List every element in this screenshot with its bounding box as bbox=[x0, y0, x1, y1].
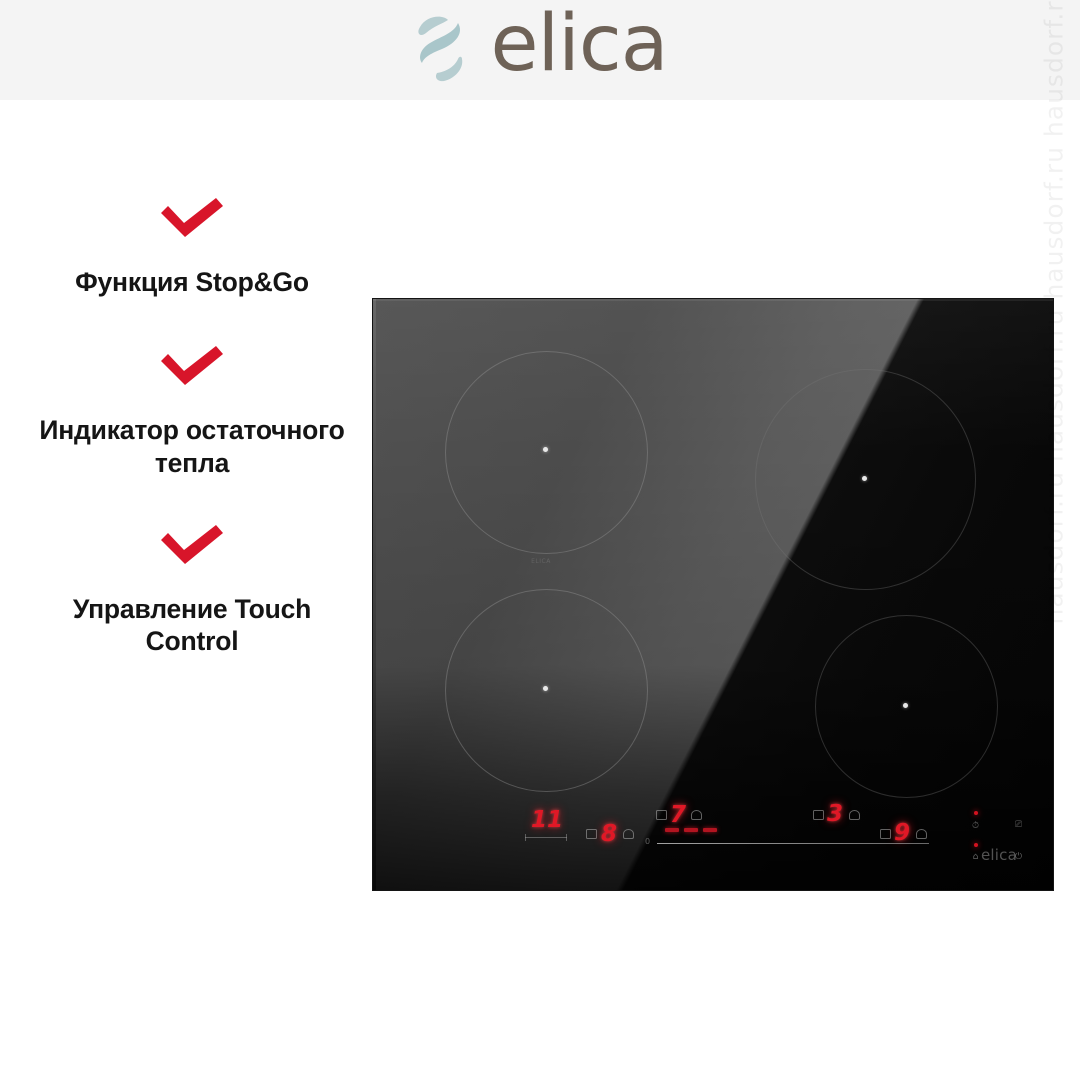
bridge-bar bbox=[525, 837, 567, 838]
minus-touch-icon[interactable] bbox=[813, 810, 824, 820]
cooking-zone-center-dot bbox=[903, 703, 908, 708]
plus-touch-icon[interactable] bbox=[691, 810, 702, 820]
child-lock-led bbox=[974, 843, 978, 847]
child-lock-button[interactable]: ⌂ bbox=[970, 852, 981, 863]
control-panel[interactable]: 11 8 7 3 9 0 ⏱ ⎚ bbox=[373, 799, 1053, 890]
hob-top-edge bbox=[373, 299, 1053, 301]
zone-readout-top-right: 3 bbox=[827, 803, 843, 826]
minus-touch-icon[interactable] bbox=[656, 810, 667, 820]
cooking-zone-top-left[interactable] bbox=[445, 351, 648, 554]
timer-button[interactable]: ⏱ bbox=[970, 821, 981, 832]
induction-hob: ELICA 11 8 7 3 9 0 bbox=[373, 299, 1053, 890]
cooking-zone-center-dot bbox=[862, 476, 867, 481]
zone-readout-top-left: 7 bbox=[670, 804, 686, 827]
power-slider[interactable] bbox=[657, 843, 929, 844]
hob-brand-logo: elica bbox=[981, 846, 1017, 864]
slider-mark bbox=[684, 828, 698, 832]
feature-label: Управление Touch Control bbox=[24, 593, 360, 658]
zone-badge-label: ELICA bbox=[518, 557, 564, 566]
boost-button[interactable]: ⎚ bbox=[1013, 820, 1024, 831]
feature-label: Индикатор остаточного тепла bbox=[24, 414, 360, 479]
plus-touch-icon[interactable] bbox=[623, 829, 634, 839]
feature-list: Функция Stop&Go Индикатор остаточного те… bbox=[24, 196, 360, 694]
brand-lockup: elica bbox=[412, 9, 667, 87]
elica-ribbon-logo-icon bbox=[412, 11, 470, 85]
red-checkmark-icon bbox=[158, 523, 226, 567]
feature-item-residual-heat: Индикатор остаточного тепла bbox=[24, 344, 360, 479]
timer-led bbox=[974, 811, 978, 815]
bridge-link-icon bbox=[523, 813, 571, 847]
minus-touch-icon[interactable] bbox=[586, 829, 597, 839]
slider-mark bbox=[665, 828, 679, 832]
red-checkmark-icon bbox=[158, 344, 226, 388]
feature-item-touch-control: Управление Touch Control bbox=[24, 523, 360, 658]
slider-zero-label: 0 bbox=[645, 837, 650, 846]
header-band: elica bbox=[0, 0, 1080, 100]
bridge-tick-left bbox=[525, 834, 526, 841]
plus-touch-icon[interactable] bbox=[916, 829, 927, 839]
minus-touch-icon[interactable] bbox=[880, 829, 891, 839]
brand-wordmark: elica bbox=[490, 5, 667, 83]
red-checkmark-icon bbox=[158, 196, 226, 240]
plus-touch-icon[interactable] bbox=[849, 810, 860, 820]
cooking-zone-center-dot bbox=[543, 686, 548, 691]
bridge-tick-right bbox=[566, 834, 567, 841]
slider-mark bbox=[703, 828, 717, 832]
feature-item-stop-and-go: Функция Stop&Go bbox=[24, 196, 360, 298]
zone-readout-bottom-right: 9 bbox=[894, 822, 910, 845]
cooking-zone-center-dot bbox=[543, 447, 548, 452]
zone-readout-bottom-left: 8 bbox=[601, 823, 617, 846]
feature-label: Функция Stop&Go bbox=[24, 266, 360, 298]
slider-active-marks bbox=[665, 828, 717, 832]
